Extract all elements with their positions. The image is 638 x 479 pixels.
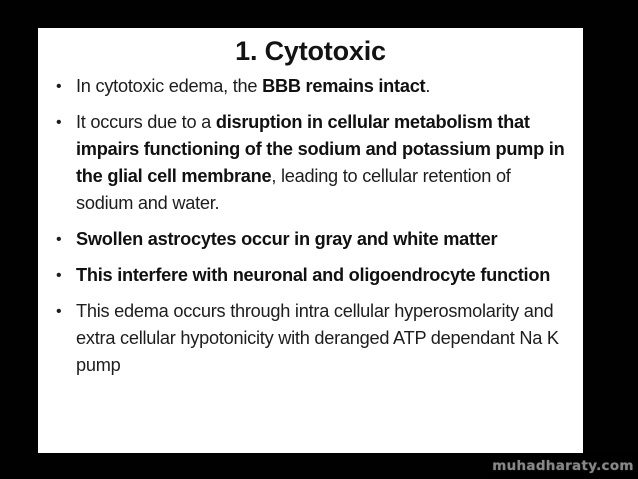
bullet-point-icon: • (56, 298, 70, 325)
slide-card: 1. Cytotoxic •In cytotoxic edema, the BB… (38, 28, 583, 453)
list-item: •It occurs due to a disruption in cellul… (52, 109, 567, 217)
bullet-list: •In cytotoxic edema, the BBB remains int… (38, 69, 583, 379)
list-item-text: Swollen astrocytes occur in gray and whi… (76, 226, 567, 253)
watermark-label: muhadharaty.com (492, 458, 634, 474)
list-item-text: This interfere with neuronal and oligoen… (76, 262, 567, 289)
emphasis-text: Swollen astrocytes occur in gray and whi… (76, 229, 497, 249)
body-text: . (425, 76, 430, 96)
body-text: This edema occurs through intra cellular… (76, 301, 559, 375)
page-title: 1. Cytotoxic (38, 28, 583, 69)
body-text: It occurs due to a (76, 112, 216, 132)
list-item: •In cytotoxic edema, the BBB remains int… (52, 73, 567, 100)
bullet-point-icon: • (56, 73, 70, 100)
watermark-banner: muhadharaty.com (488, 453, 638, 479)
list-item-text: This edema occurs through intra cellular… (76, 298, 567, 379)
list-item-text: It occurs due to a disruption in cellula… (76, 109, 567, 217)
bullet-point-icon: • (56, 109, 70, 136)
bullet-point-icon: • (56, 226, 70, 253)
list-item: •This interfere with neuronal and oligoe… (52, 262, 567, 289)
bullet-point-icon: • (56, 262, 70, 289)
emphasis-text: This interfere with neuronal and oligoen… (76, 265, 550, 285)
slide-frame: 1. Cytotoxic •In cytotoxic edema, the BB… (0, 0, 638, 479)
body-text: In cytotoxic edema, the (76, 76, 262, 96)
list-item-text: In cytotoxic edema, the BBB remains inta… (76, 73, 567, 100)
list-item: •Swollen astrocytes occur in gray and wh… (52, 226, 567, 253)
emphasis-text: BBB remains intact (262, 76, 425, 96)
list-item: •This edema occurs through intra cellula… (52, 298, 567, 379)
